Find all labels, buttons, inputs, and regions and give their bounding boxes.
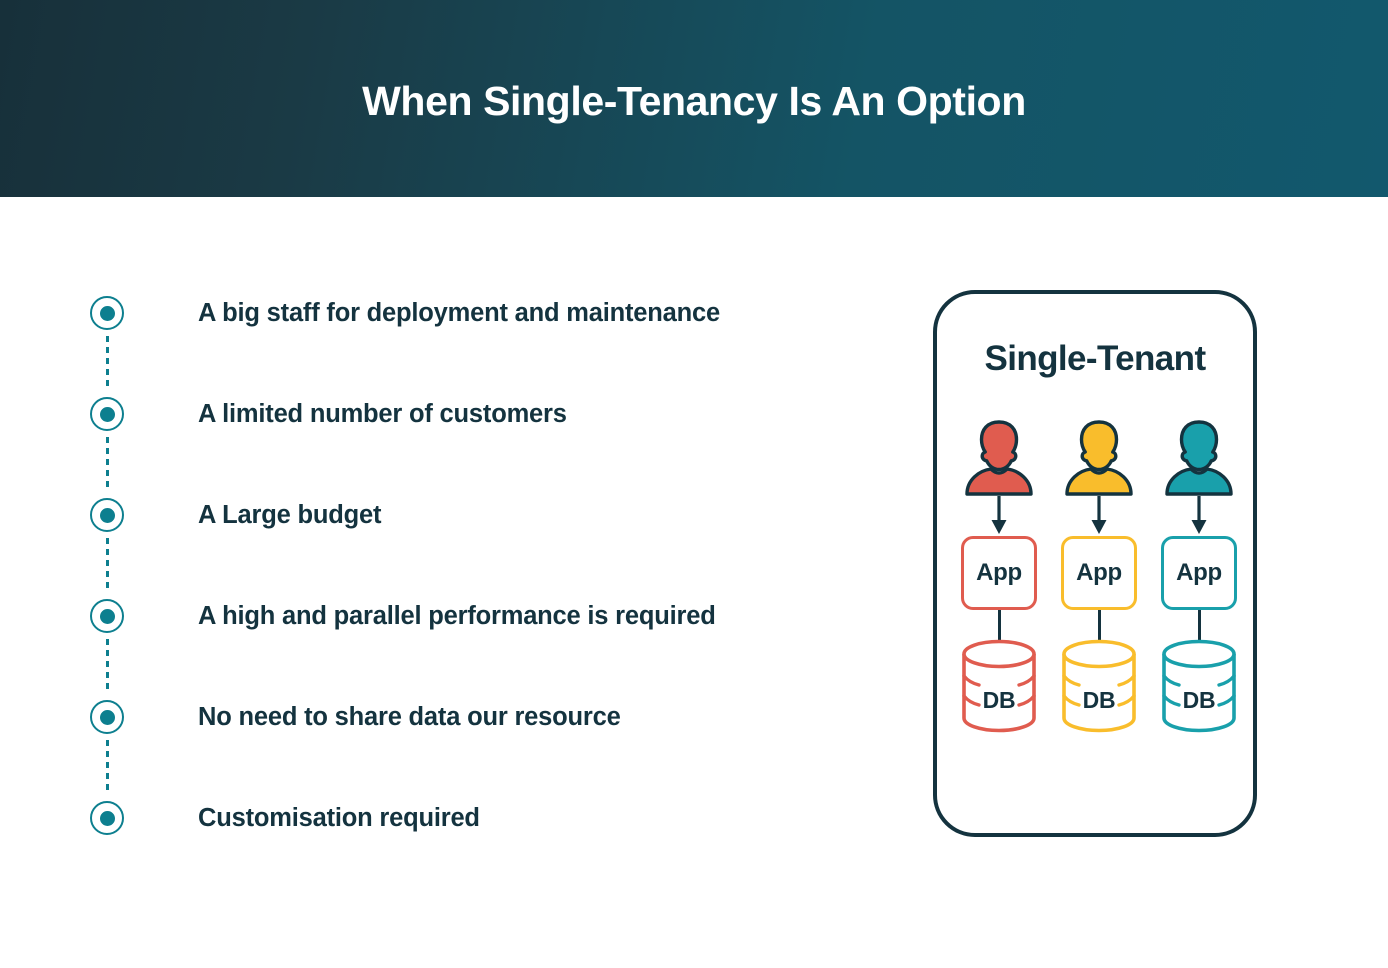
user-icon	[1157, 414, 1241, 498]
dotted-connector-line	[106, 437, 109, 489]
app-label: App	[1076, 559, 1122, 587]
tenant-stack-diagram: App DB	[937, 414, 1253, 834]
app-label: App	[976, 559, 1022, 587]
bullet-marker-column	[82, 690, 132, 791]
dotted-connector-line	[106, 538, 109, 590]
list-item-label: A big staff for deployment and maintenan…	[198, 296, 720, 330]
card-title: Single-Tenant	[937, 339, 1253, 379]
bullet-dot-icon	[90, 498, 124, 532]
bullet-marker-column	[82, 589, 132, 690]
slide-root: When Single-Tenancy Is An Option A big s…	[0, 0, 1388, 968]
bullet-dot-icon	[90, 700, 124, 734]
bullet-marker-column	[82, 488, 132, 589]
header-banner: When Single-Tenancy Is An Option	[0, 0, 1388, 197]
arrow-down-icon	[1087, 496, 1111, 536]
tenant-column: App DB	[1051, 414, 1147, 834]
bullet-dot-icon	[90, 801, 124, 835]
tenant-column: App DB	[951, 414, 1047, 834]
bullet-marker-column	[82, 791, 132, 892]
database-icon	[1158, 638, 1240, 734]
user-icon	[957, 414, 1041, 498]
list-item-label: A high and parallel performance is requi…	[198, 599, 716, 633]
single-tenant-diagram-card: Single-Tenant App	[933, 290, 1257, 837]
list-item: Customisation required	[82, 791, 882, 892]
database-icon	[1058, 638, 1140, 734]
dotted-connector-line	[106, 639, 109, 691]
list-item: A big staff for deployment and maintenan…	[82, 286, 882, 387]
bullet-dot-icon	[90, 296, 124, 330]
user-icon	[1057, 414, 1141, 498]
app-node: App	[1061, 536, 1137, 610]
list-item-label: A Large budget	[198, 498, 381, 532]
bullet-marker-column	[82, 286, 132, 387]
list-item-label: A limited number of customers	[198, 397, 567, 431]
arrow-down-icon	[987, 496, 1011, 536]
app-node: App	[961, 536, 1037, 610]
list-item: No need to share data our resource	[82, 690, 882, 791]
dotted-connector-line	[106, 336, 109, 388]
list-item: A high and parallel performance is requi…	[82, 589, 882, 690]
list-item: A limited number of customers	[82, 387, 882, 488]
arrow-down-icon	[1187, 496, 1211, 536]
database-icon	[958, 638, 1040, 734]
db-node: DB	[1058, 638, 1140, 734]
bullet-marker-column	[82, 387, 132, 488]
list-item: A Large budget	[82, 488, 882, 589]
bullet-list: A big staff for deployment and maintenan…	[82, 286, 882, 856]
bullet-dot-icon	[90, 397, 124, 431]
app-label: App	[1176, 559, 1222, 587]
dotted-connector-line	[106, 740, 109, 792]
page-title: When Single-Tenancy Is An Option	[362, 78, 1026, 125]
list-item-label: Customisation required	[198, 801, 480, 835]
db-node: DB	[958, 638, 1040, 734]
bullet-dot-icon	[90, 599, 124, 633]
db-label: DB	[1158, 687, 1240, 714]
db-node: DB	[1158, 638, 1240, 734]
tenant-column: App DB	[1151, 414, 1247, 834]
db-label: DB	[1058, 687, 1140, 714]
list-item-label: No need to share data our resource	[198, 700, 621, 734]
db-label: DB	[958, 687, 1040, 714]
app-node: App	[1161, 536, 1237, 610]
